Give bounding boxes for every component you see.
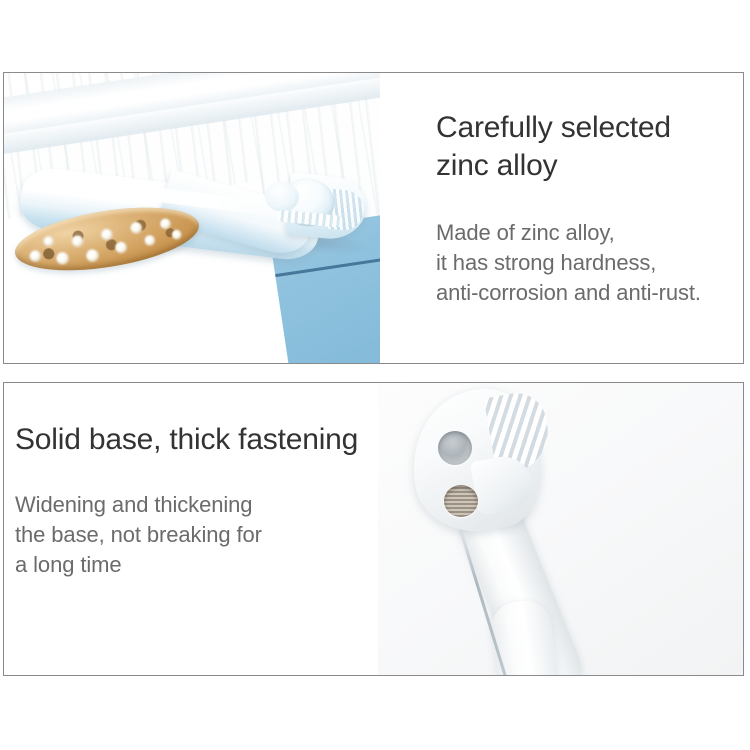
shell-ornament-endcap <box>258 160 370 254</box>
screw-hole-threaded <box>444 485 478 517</box>
handle-base-with-screw-holes-photo <box>378 383 743 675</box>
feature-body-text: Made of zinc alloy, it has strong hardne… <box>436 218 701 308</box>
handle-base-assembly <box>378 383 743 675</box>
feature-panel-solid-base: Solid base, thick fastening Widening and… <box>3 382 744 676</box>
ornate-gold-filigree-handle-on-white-door-photo <box>4 73 380 363</box>
copy-block-solid-base: Solid base, thick fastening Widening and… <box>4 383 380 675</box>
product-feature-sheet: Carefully selected zinc alloy Made of zi… <box>0 0 750 750</box>
handle-assembly <box>12 159 372 299</box>
feature-panel-zinc-alloy: Carefully selected zinc alloy Made of zi… <box>3 72 744 364</box>
feature-headline: Solid base, thick fastening <box>15 421 358 459</box>
feature-body-text: Widening and thickening the base, not br… <box>15 490 262 580</box>
feature-headline: Carefully selected zinc alloy <box>436 109 671 185</box>
copy-block-zinc-alloy: Carefully selected zinc alloy Made of zi… <box>380 73 743 363</box>
screw-hole-plain <box>438 431 472 465</box>
